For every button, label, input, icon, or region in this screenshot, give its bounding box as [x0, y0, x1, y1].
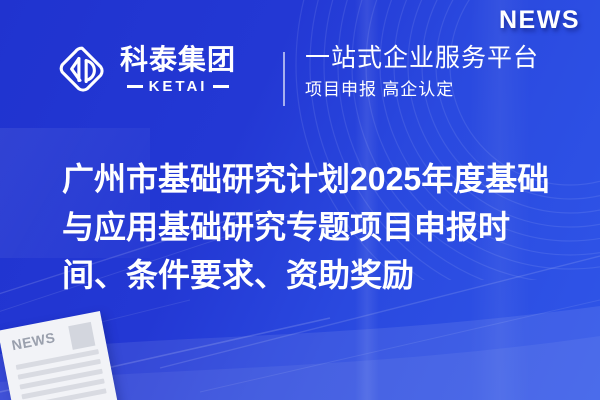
brand-name-cn: 科泰集团: [120, 46, 236, 74]
header-divider: [283, 52, 285, 106]
slogan-main: 一站式企业服务平台: [305, 44, 539, 74]
news-banner: NEWS 科泰集团 KETAI: [0, 0, 600, 400]
slogan-sub: 项目申报 高企认定: [305, 80, 539, 100]
ketai-kd-monogram-icon: [56, 44, 108, 96]
image-placeholder-icon: [68, 322, 95, 350]
news-tag-label: NEWS: [499, 6, 580, 35]
logo-rule-left-icon: [127, 85, 143, 88]
brand-logo[interactable]: 科泰集团 KETAI: [56, 44, 236, 96]
brand-name-en-row: KETAI: [127, 79, 230, 94]
page-title: 广州市基础研究计划2025年度基础与应用基础研究专题项目申报时间、条件要求、资助…: [62, 155, 562, 299]
banner-header: NEWS 科泰集团 KETAI: [0, 0, 600, 128]
logo-rule-right-icon: [213, 85, 229, 88]
brand-name-en: KETAI: [149, 79, 208, 94]
brand-logo-text: 科泰集团 KETAI: [120, 46, 236, 94]
news-card-label: NEWS: [10, 329, 56, 353]
slogan-block: 一站式企业服务平台 项目申报 高企认定: [305, 44, 539, 100]
